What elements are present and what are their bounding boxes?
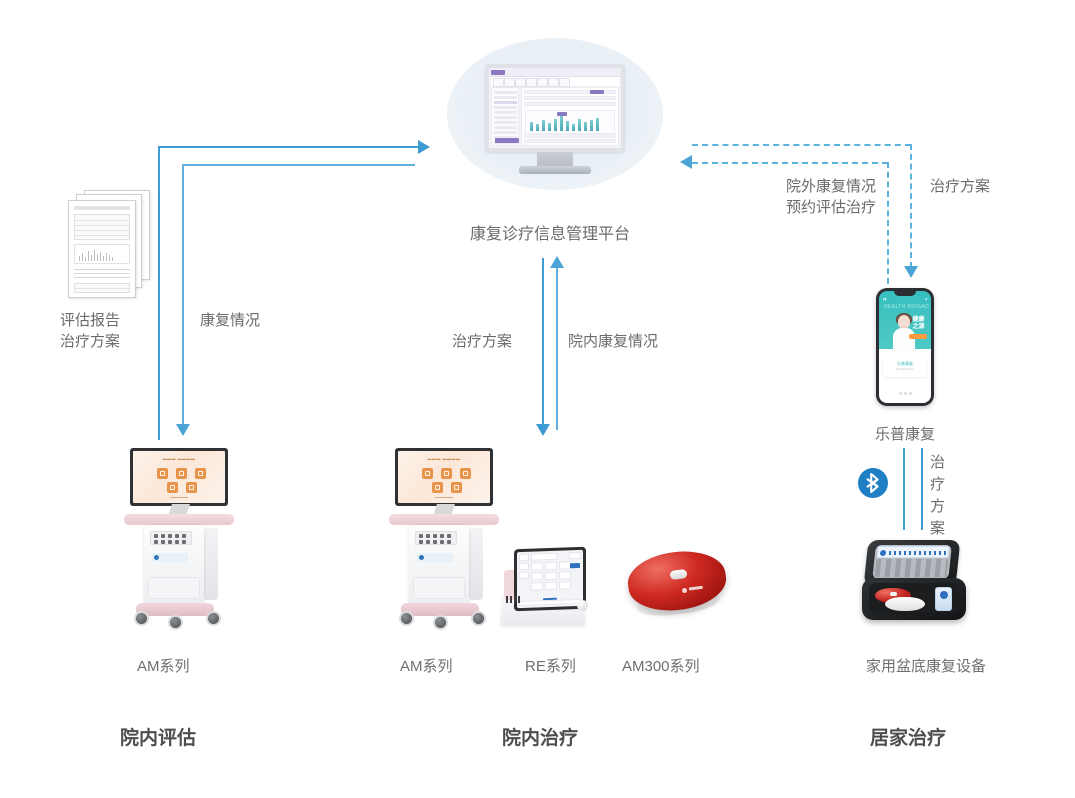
cart-wheel (134, 611, 149, 626)
arrow-head-plan-down (536, 424, 550, 436)
flow-line-inner-vertical (182, 164, 184, 426)
documents-label-line2: 治疗方案 (60, 331, 120, 352)
phone-brand-text: HEALTH BRIGAD (884, 304, 929, 310)
dashboard-main (521, 87, 619, 146)
cart-drawer (148, 577, 200, 599)
dashed-line-left-to-platform (692, 162, 888, 164)
dashed-line-up-from-phone (887, 162, 889, 284)
dashboard-primary-button[interactable] (590, 90, 604, 94)
cart-tower (409, 525, 469, 605)
flow-label-out-hospital-line1: 院外康复情况 (786, 176, 876, 197)
dashboard-header (489, 68, 621, 77)
phone-statusbar: ▮▮▮ (879, 297, 931, 302)
device-case-icon (862, 540, 972, 624)
flow-label-recovery-status: 康复情况 (200, 310, 260, 331)
re-tablet (514, 547, 586, 612)
case-bottom (862, 578, 966, 620)
flow-label-treatment-plan-right: 治疗方案 (930, 176, 990, 197)
flow-label-in-hospital-recovery: 院内康复情况 (568, 331, 658, 352)
platform-monitor[interactable] (485, 64, 625, 152)
cart-tower (144, 525, 204, 605)
case-foam (875, 559, 949, 577)
re-indicator-lights (506, 590, 522, 608)
dashboard-tab[interactable] (526, 78, 537, 87)
section-title-assessment: 院内评估 (120, 723, 196, 750)
cart-wheel (399, 611, 414, 626)
dashboard-sidebar[interactable] (491, 87, 519, 146)
case-info-card (877, 546, 950, 558)
dashboard-tab[interactable] (504, 78, 515, 87)
cart-screen: ▬▬▬ ▬▬▬▬ ▬▬▬▬▬▬ (398, 451, 490, 503)
phone-label: 乐普康复 (830, 424, 980, 445)
cart-drawer (413, 577, 465, 599)
medical-cart-icon: ▬▬▬ ▬▬▬▬ ▬▬▬▬▬▬ (383, 448, 505, 633)
arrow-head-to-platform (418, 140, 430, 154)
bt-line-right (921, 448, 923, 530)
phone-card-sub: Rehabilitation (883, 367, 927, 371)
case-lid-interior (872, 545, 952, 579)
dashboard-tab[interactable] (493, 78, 504, 87)
cart-screen: ▬▬▬ ▬▬▬▬ ▬▬▬▬▬▬ (133, 451, 225, 503)
flow-line-outer-horizontal (158, 146, 420, 148)
cart-wheel (471, 611, 486, 626)
device-label-am-assess: AM系列 (137, 655, 190, 676)
arrow-head-recovery-up (550, 256, 564, 268)
device-label-am-treat: AM系列 (400, 655, 453, 676)
platform-dashboard-screen (489, 68, 621, 148)
tablet-console-icon (498, 548, 590, 630)
bt-label-treatment-plan: 治疗方案 (930, 452, 948, 540)
flow-label-out-hospital-line2: 预约评估治疗 (786, 197, 876, 218)
flow-line-plan-down (542, 258, 544, 430)
flow-label-treatment-plan-center: 治疗方案 (452, 331, 512, 352)
monitor-stand-base (519, 166, 591, 174)
section-title-home: 居家治疗 (870, 723, 946, 750)
app-logo-icon (491, 70, 505, 75)
red-oval-device-icon (628, 552, 726, 624)
device-label-home-kit: 家用盆底康复设备 (866, 655, 986, 676)
dashboard-tabs (491, 77, 619, 86)
cart-wheel (433, 615, 448, 630)
cart-control-panel[interactable] (415, 531, 457, 545)
stacked-documents-icon (68, 190, 156, 298)
dashboard-tab[interactable] (548, 78, 559, 87)
cart-monitor: ▬▬▬ ▬▬▬▬ ▬▬▬▬▬▬ (130, 448, 228, 506)
case-tray (869, 583, 959, 613)
phone-cta-badge[interactable] (909, 334, 927, 339)
case-blue-accessory (935, 587, 952, 611)
phone-pagination-dots (879, 382, 931, 400)
phone-notch (894, 291, 916, 296)
device-label-am300: AM300系列 (622, 655, 700, 676)
smartphone-icon[interactable]: ▮▮▮ HEALTH BRIGAD 健康 之源 乐普康复 Rehabilitat… (876, 288, 934, 406)
dashboard-bar-chart (525, 110, 615, 134)
flow-line-inner-horizontal (182, 164, 415, 166)
dashboard-tab[interactable] (559, 78, 570, 87)
re-screen (517, 550, 583, 608)
bt-line-left (903, 448, 905, 530)
cart-monitor: ▬▬▬ ▬▬▬▬ ▬▬▬▬▬▬ (395, 448, 493, 506)
documents-label-line1: 评估报告 (60, 310, 120, 331)
dashboard-sidebar-button[interactable] (495, 138, 519, 143)
cart-wheel (168, 615, 183, 630)
monitor-stand-neck (537, 152, 573, 166)
flow-line-outer-vertical (158, 146, 160, 440)
phone-card[interactable]: 乐普康复 Rehabilitation (883, 355, 927, 377)
phone-headline-line1: 健康 (910, 317, 927, 324)
platform-label: 康复诊疗信息管理平台 (400, 224, 700, 245)
medical-cart-icon: ▬▬▬ ▬▬▬▬ ▬▬▬▬▬▬ (118, 448, 240, 633)
cart-control-panel[interactable] (150, 531, 192, 545)
re-knob[interactable] (577, 600, 588, 611)
dashed-line-right-from-platform (692, 144, 911, 146)
cart-brand-logo (417, 553, 453, 562)
phone-headline: 健康 之源 (910, 317, 927, 331)
phone-headline-line2: 之源 (910, 324, 927, 331)
arrow-head-to-phone (904, 266, 918, 278)
section-title-treatment: 院内治疗 (502, 723, 578, 750)
cart-wheel (206, 611, 221, 626)
case-white-device (885, 597, 925, 611)
dashboard-tab[interactable] (515, 78, 526, 87)
phone-screen: ▮▮▮ HEALTH BRIGAD 健康 之源 乐普康复 Rehabilitat… (879, 291, 931, 403)
flow-line-recovery-up (556, 266, 558, 430)
arrow-head-to-platform-dashed (680, 155, 692, 169)
device-label-re: RE系列 (525, 655, 576, 676)
bluetooth-icon (858, 468, 888, 498)
dashed-line-down-to-phone (910, 144, 912, 268)
arrow-head-to-cart (176, 424, 190, 436)
cart-brand-logo (152, 553, 188, 562)
dashboard-tab[interactable] (537, 78, 548, 87)
